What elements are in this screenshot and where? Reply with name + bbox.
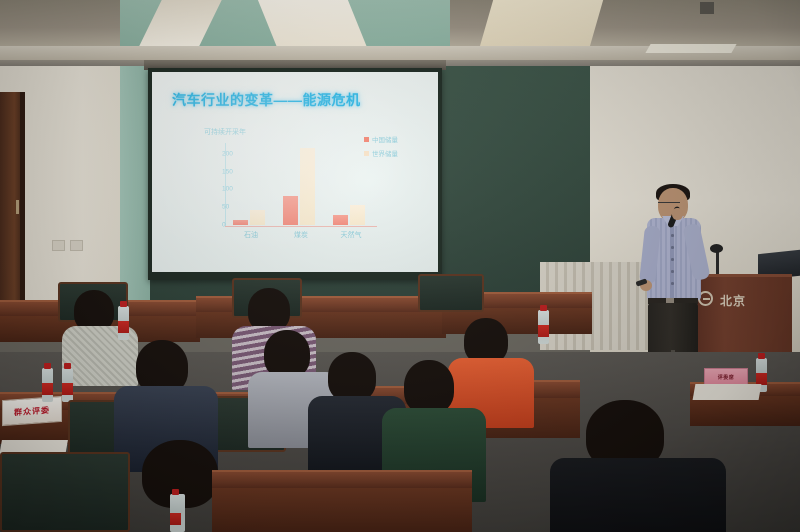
bottle-label bbox=[538, 325, 549, 337]
bottle-label bbox=[118, 321, 129, 333]
legend-swatch-world bbox=[364, 151, 369, 156]
water-bottle-back-2[interactable] bbox=[538, 310, 549, 344]
legend-item-china: 中国储量 bbox=[364, 134, 434, 144]
chart-bar-world bbox=[250, 210, 265, 225]
right-judge-name-card-label: 评委席 bbox=[718, 374, 735, 381]
chart-bar-world bbox=[300, 148, 315, 225]
projected-slide: 汽车行业的变革——能源危机 可持续开采年 050100150200石油煤炭天然气… bbox=[152, 72, 438, 272]
shirt-button-2 bbox=[671, 246, 674, 249]
chart-x-tick-label: 煤炭 bbox=[281, 230, 321, 240]
bottle-cap bbox=[64, 363, 71, 369]
chart-bar-group bbox=[281, 143, 321, 225]
bottle-label bbox=[62, 383, 73, 395]
chart-x-tick-label: 天然气 bbox=[331, 230, 371, 240]
legend-item-world: 世界储量 bbox=[364, 148, 434, 158]
legend-swatch-china bbox=[364, 137, 369, 142]
ceiling-light bbox=[645, 44, 736, 53]
presenter-right-hand bbox=[672, 208, 683, 220]
legend-label-china: 中国储量 bbox=[372, 134, 398, 144]
lecture-room-photo: 汽车行业的变革——能源危机 可持续开采年 050100150200石油煤炭天然气… bbox=[0, 0, 800, 532]
chart-legend: 中国储量 世界储量 bbox=[364, 134, 434, 162]
attendee-head bbox=[328, 352, 376, 402]
shirt-button-4 bbox=[671, 270, 674, 273]
attendee-foreground-right bbox=[560, 400, 710, 532]
ceiling bbox=[0, 0, 800, 62]
judge-name-card-label: 群众评委 bbox=[14, 404, 50, 418]
chair-back-3[interactable] bbox=[418, 274, 484, 312]
chair-foreground-left[interactable] bbox=[0, 452, 130, 532]
desk-foreground bbox=[212, 470, 472, 490]
chart-bar-china bbox=[233, 220, 248, 225]
bottle-cap bbox=[172, 489, 179, 495]
chart-bar-china bbox=[333, 215, 348, 225]
attendee-head bbox=[264, 330, 310, 378]
paper-sheet-right[interactable] bbox=[693, 384, 762, 400]
chart-bar-group bbox=[231, 143, 271, 225]
bottle-label bbox=[42, 383, 53, 395]
microphone-stand bbox=[716, 250, 719, 274]
bottle-cap bbox=[540, 305, 547, 311]
chart-bar-world bbox=[350, 205, 365, 225]
slide-title: 汽车行业的变革——能源危机 bbox=[172, 90, 361, 110]
water-bottle-mid-2[interactable] bbox=[62, 368, 73, 402]
attendee-green bbox=[388, 360, 480, 480]
chart-x-axis bbox=[225, 226, 377, 227]
shirt-button-1 bbox=[671, 234, 674, 237]
bottle-cap bbox=[758, 353, 765, 359]
wall-socket-left-1[interactable] bbox=[52, 240, 65, 251]
chart-y-axis-title: 可持续开采年 bbox=[204, 127, 246, 137]
bottle-label bbox=[170, 513, 181, 525]
shirt-button-5 bbox=[671, 282, 674, 285]
judge-name-card: 群众评委 bbox=[2, 396, 62, 426]
legend-label-world: 世界储量 bbox=[372, 148, 398, 158]
chart-plot-area bbox=[226, 143, 376, 225]
attendee-head bbox=[404, 360, 454, 414]
attendee-top bbox=[550, 458, 726, 532]
podium-label: 北京 bbox=[720, 292, 746, 309]
bottle-cap bbox=[44, 363, 51, 369]
water-bottle-back-1[interactable] bbox=[118, 306, 129, 340]
desk-front-foreground bbox=[212, 488, 472, 532]
ceiling-vent bbox=[700, 2, 714, 14]
bottle-cap bbox=[120, 301, 127, 307]
shirt-button-3 bbox=[671, 258, 674, 261]
water-bottle-foreground[interactable] bbox=[170, 494, 185, 532]
attendee-front-left bbox=[118, 340, 210, 450]
water-bottle-mid-1[interactable] bbox=[42, 368, 53, 402]
chart-x-tick-label: 石油 bbox=[231, 230, 271, 240]
wall-socket-left-2[interactable] bbox=[70, 240, 83, 251]
door-edge bbox=[20, 92, 25, 324]
door-handle[interactable] bbox=[16, 200, 19, 214]
chart-bar-china bbox=[283, 196, 298, 225]
